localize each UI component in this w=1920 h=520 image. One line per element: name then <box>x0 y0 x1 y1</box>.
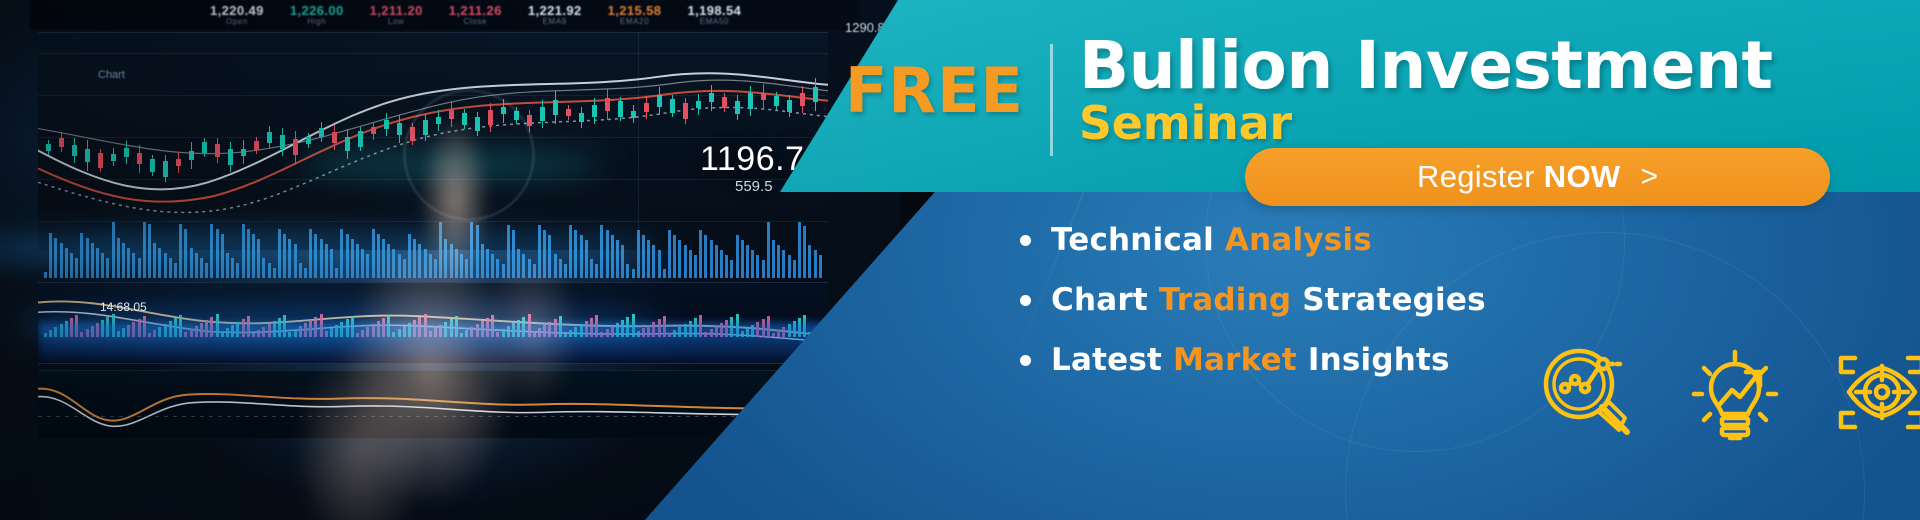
bullet-highlight: Analysis <box>1225 222 1372 258</box>
bullet-dot-icon <box>1020 235 1031 246</box>
time-readout: 14:68.05 <box>100 300 147 314</box>
bullet-highlight: Trading <box>1159 282 1291 318</box>
promo-banner: 1,220.49Open1,226.00High1,211.20Low1,211… <box>0 0 1920 520</box>
headline-group: FREE Bullion Investment Seminar <box>845 34 1773 156</box>
register-now-button[interactable]: Register NOW > <box>1245 148 1830 206</box>
register-now-label: Register NOW <box>1417 159 1620 195</box>
bullet-lead: Latest <box>1051 342 1173 378</box>
bullet-dot-icon <box>1020 355 1031 366</box>
title-stack: Bullion Investment Seminar <box>1079 34 1773 146</box>
bullet-tail: Strategies <box>1291 282 1485 318</box>
magnifier-analytics-icon <box>1535 340 1640 445</box>
feature-bullet-item: Latest Market Insights <box>1020 342 1220 378</box>
headline-divider <box>1050 44 1053 156</box>
bullet-lead: Technical <box>1051 222 1225 258</box>
bullet-tail: Insights <box>1297 342 1450 378</box>
register-label-bold: NOW <box>1544 159 1621 194</box>
register-label-light: Register <box>1417 159 1544 194</box>
feature-icon-row <box>1535 340 1920 445</box>
free-badge: FREE <box>845 34 1024 122</box>
page-title: Bullion Investment <box>1079 34 1773 99</box>
eye-target-icon <box>1829 340 1920 445</box>
feature-bullet-text: Chart Trading Strategies <box>1051 282 1486 318</box>
page-subtitle: Seminar <box>1079 101 1773 146</box>
feature-bullet-text: Latest Market Insights <box>1051 342 1450 378</box>
chevron-right-icon: > <box>1640 160 1658 194</box>
feature-bullet-item: Chart Trading Strategies <box>1020 282 1220 318</box>
lightbulb-growth-icon <box>1682 340 1787 445</box>
bullet-dot-icon <box>1020 295 1031 306</box>
feature-bullet-text: Technical Analysis <box>1051 222 1372 258</box>
bullet-highlight: Market <box>1173 342 1297 378</box>
price-readout-major: 1196.7 <box>700 140 804 179</box>
feature-bullet-list: Technical AnalysisChart Trading Strategi… <box>1020 222 1220 378</box>
bullet-lead: Chart <box>1051 282 1159 318</box>
touch-ripple-ring <box>404 90 534 220</box>
feature-bullet-item: Technical Analysis <box>1020 222 1220 258</box>
price-readout-minor: 559.5 <box>735 178 773 195</box>
